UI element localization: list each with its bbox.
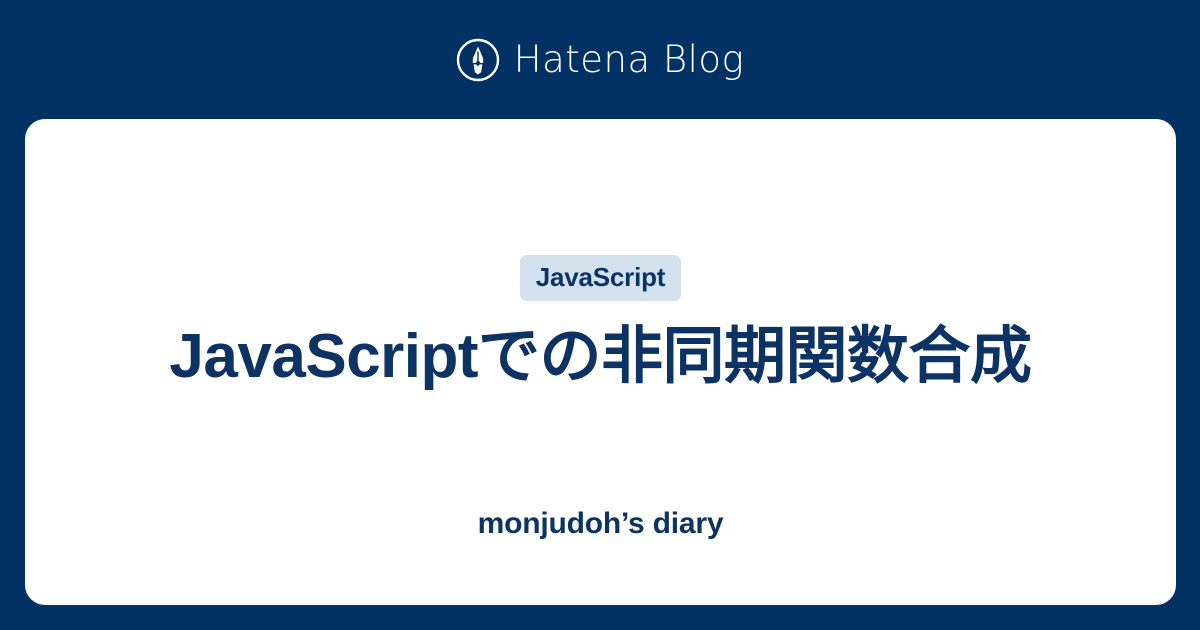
brand-name: Hatena Blog [514,38,745,82]
ogp-card-root: Hatena Blog JavaScript JavaScriptでの非同期関数… [0,0,1200,630]
brand-header: Hatena Blog [0,0,1200,119]
entry-card: JavaScript JavaScriptでの非同期関数合成 monjudoh’… [25,119,1176,605]
category-badge[interactable]: JavaScript [520,255,682,301]
category-badge-row: JavaScript [25,255,1176,301]
fountain-pen-nib-in-circle-icon [456,38,500,82]
blog-title: monjudoh’s diary [478,504,724,544]
entry-title-row: JavaScriptでの非同期関数合成 [25,317,1176,397]
entry-card-inner: JavaScript JavaScriptでの非同期関数合成 monjudoh’… [25,119,1176,605]
blog-title-row: monjudoh’s diary [25,504,1176,544]
entry-title: JavaScriptでの非同期関数合成 [169,317,1031,397]
